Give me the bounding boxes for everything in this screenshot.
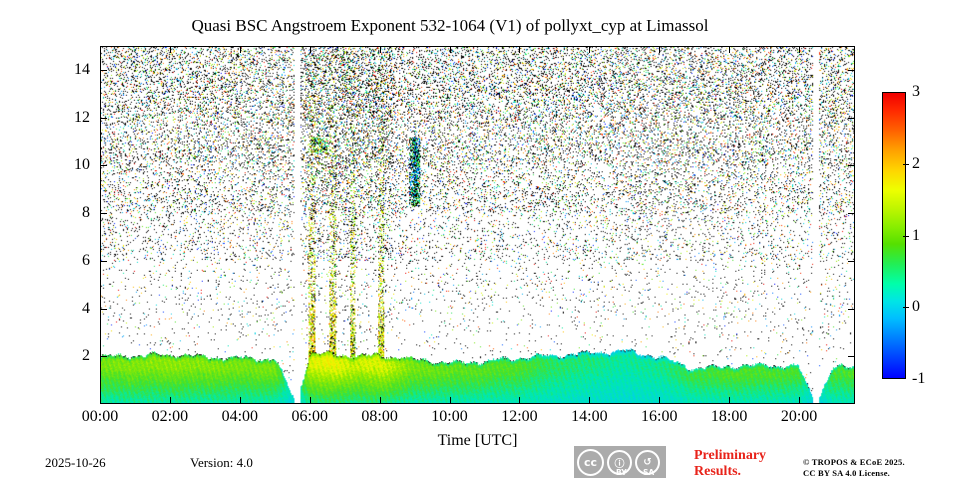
- x-tick-mark: [519, 397, 520, 404]
- y-tick-mark: [848, 118, 855, 119]
- y-tick-mark: [100, 261, 107, 262]
- x-tick-mark: [659, 397, 660, 404]
- y-tick-label: 2: [58, 347, 90, 365]
- y-tick-mark: [100, 70, 107, 71]
- colorbar-tick-label: 2: [912, 155, 920, 173]
- x-tick-mark: [310, 46, 311, 53]
- y-tick-mark: [100, 165, 107, 166]
- x-tick-mark: [519, 46, 520, 53]
- cc-logo-icon: cc: [577, 449, 604, 476]
- y-tick-mark: [848, 309, 855, 310]
- colorbar-tick-mark: [903, 236, 909, 237]
- x-tick-mark: [729, 46, 730, 53]
- colorbar-tick-mark: [903, 307, 909, 308]
- x-tick-label: 02:00: [152, 408, 188, 426]
- x-tick-mark: [729, 397, 730, 404]
- y-tick-mark: [848, 165, 855, 166]
- y-tick-mark: [848, 213, 855, 214]
- y-tick-mark: [100, 213, 107, 214]
- preliminary-line-2: Results.: [694, 464, 766, 480]
- footer-date: 2025-10-26: [45, 455, 106, 471]
- cc-by-label: BY: [616, 468, 627, 477]
- y-tick-mark: [100, 356, 107, 357]
- x-tick-label: 18:00: [711, 408, 747, 426]
- colorbar-tick-mark: [903, 164, 909, 165]
- x-tick-label: 20:00: [781, 408, 817, 426]
- x-tick-label: 04:00: [222, 408, 258, 426]
- preliminary-notice: Preliminary Results.: [694, 448, 766, 480]
- y-tick-label: 4: [58, 300, 90, 318]
- copyright-line-2: CC BY SA 4.0 License.: [803, 468, 905, 479]
- x-tick-label: 08:00: [361, 408, 397, 426]
- x-tick-mark: [799, 46, 800, 53]
- y-tick-label: 8: [58, 204, 90, 222]
- colorbar-tick-label: 3: [912, 83, 920, 101]
- y-tick-mark: [100, 309, 107, 310]
- x-tick-label: 00:00: [82, 408, 118, 426]
- x-tick-mark: [170, 46, 171, 53]
- colorbar-tick-label: 0: [912, 298, 920, 316]
- colorbar-gradient: [883, 93, 905, 378]
- page-title: Quasi BSC Angstroem Exponent 532-1064 (V…: [0, 16, 900, 36]
- colorbar-tick-label: -1: [912, 370, 925, 388]
- x-tick-mark: [380, 397, 381, 404]
- x-tick-label: 14:00: [571, 408, 607, 426]
- y-tick-label: 12: [58, 109, 90, 127]
- x-tick-mark: [240, 46, 241, 53]
- x-tick-mark: [450, 46, 451, 53]
- x-tick-mark: [100, 46, 101, 53]
- x-tick-mark: [170, 397, 171, 404]
- x-tick-mark: [100, 397, 101, 404]
- x-tick-mark: [589, 46, 590, 53]
- copyright-line-1: © TROPOS & ECoE 2025.: [803, 457, 905, 468]
- x-tick-label: 16:00: [641, 408, 677, 426]
- x-tick-mark: [799, 397, 800, 404]
- x-tick-mark: [380, 46, 381, 53]
- y-tick-mark: [848, 261, 855, 262]
- y-tick-mark: [848, 356, 855, 357]
- x-tick-label: 12:00: [501, 408, 537, 426]
- footer-version: Version: 4.0: [190, 455, 253, 471]
- y-tick-label: 14: [58, 61, 90, 79]
- colorbar-tick-label: 1: [912, 227, 920, 245]
- x-tick-label: 06:00: [291, 408, 327, 426]
- lidar-quicklook-figure: Quasi BSC Angstroem Exponent 532-1064 (V…: [0, 0, 960, 480]
- y-tick-mark: [848, 70, 855, 71]
- y-tick-label: 6: [58, 252, 90, 270]
- copyright-notice: © TROPOS & ECoE 2025. CC BY SA 4.0 Licen…: [803, 457, 905, 480]
- cc-sa-label: SA: [643, 468, 654, 477]
- plot-area[interactable]: [100, 46, 855, 404]
- x-tick-mark: [659, 46, 660, 53]
- x-tick-label: 10:00: [431, 408, 467, 426]
- x-tick-mark: [450, 397, 451, 404]
- preliminary-line-1: Preliminary: [694, 448, 766, 464]
- y-tick-label: 10: [58, 156, 90, 174]
- heatmap-canvas: [101, 47, 854, 403]
- y-tick-mark: [100, 118, 107, 119]
- x-tick-mark: [589, 397, 590, 404]
- x-tick-mark: [310, 397, 311, 404]
- x-tick-mark: [240, 397, 241, 404]
